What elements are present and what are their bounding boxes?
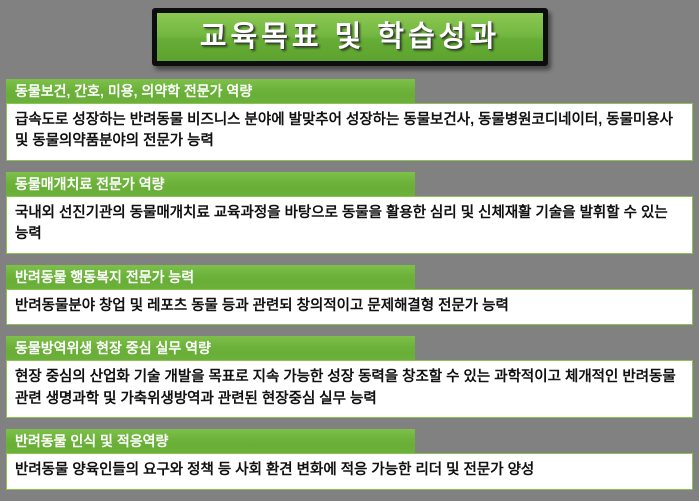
- section-header-bar: 동물방역위생 현장 중심 실무 역량: [6, 336, 415, 360]
- page-title: 교육목표 및 학습성과: [200, 23, 500, 52]
- slide-title-banner: 교육목표 및 학습성과: [152, 8, 548, 66]
- section-header-bar: 반려동물 행동복지 전문가 능력: [6, 265, 415, 289]
- section-item: 반려동물 행동복지 전문가 능력 반려동물분야 창업 및 레포츠 동물 등과 관…: [0, 265, 699, 325]
- section-body-text: 반려동물 양육인들의 요구와 정책 등 사회 환견 변화에 적응 가능한 리더 …: [15, 460, 684, 481]
- section-body-box: 국내외 선진기관의 동물매개치료 교육과정을 바탕으로 동물을 활용한 심리 및…: [6, 196, 693, 254]
- section-body-text: 급속도로 성장하는 반려동물 비즈니스 분야에 발맞추어 성장하는 동물보건사,…: [15, 110, 684, 153]
- section-item: 동물매개치료 전문가 역량 국내외 선진기관의 동물매개치료 교육과정을 바탕으…: [0, 172, 699, 254]
- section-body-box: 급속도로 성장하는 반려동물 비즈니스 분야에 발맞추어 성장하는 동물보건사,…: [6, 103, 693, 161]
- section-item: 반려동물 인식 및 적응역량 반려동물 양육인들의 요구와 정책 등 사회 환견…: [0, 429, 699, 489]
- section-body-text: 현장 중심의 산업화 기술 개발을 목표로 지속 가능한 성장 동력을 창조할 …: [15, 367, 684, 410]
- section-header-label: 동물방역위생 현장 중심 실무 역량: [15, 341, 211, 355]
- section-body-box: 반려동물분야 창업 및 레포츠 동물 등과 관련되 창의적이고 문제해결형 전문…: [6, 289, 693, 325]
- slide-root: 교육목표 및 학습성과 동물보건, 간호, 미용, 의약학 전문가 역량 급속도…: [0, 0, 699, 480]
- section-header-bar: 동물매개치료 전문가 역량: [6, 172, 415, 196]
- section-header-label: 반려동물 행동복지 전문가 능력: [15, 270, 194, 284]
- section-header-label: 동물보건, 간호, 미용, 의약학 전문가 역량: [15, 84, 252, 98]
- section-header-bar: 동물보건, 간호, 미용, 의약학 전문가 역량: [6, 79, 415, 103]
- section-header-bar: 반려동물 인식 및 적응역량: [6, 429, 415, 453]
- section-item: 동물방역위생 현장 중심 실무 역량 현장 중심의 산업화 기술 개발을 목표로…: [0, 336, 699, 418]
- section-header-label: 반려동물 인식 및 적응역량: [15, 434, 168, 448]
- section-list: 동물보건, 간호, 미용, 의약학 전문가 역량 급속도로 성장하는 반려동물 …: [0, 79, 699, 501]
- section-body-box: 반려동물 양육인들의 요구와 정책 등 사회 환견 변화에 적응 가능한 리더 …: [6, 453, 693, 489]
- section-body-box: 현장 중심의 산업화 기술 개발을 목표로 지속 가능한 성장 동력을 창조할 …: [6, 360, 693, 418]
- section-body-text: 국내외 선진기관의 동물매개치료 교육과정을 바탕으로 동물을 활용한 심리 및…: [15, 203, 684, 246]
- section-body-text: 반려동물분야 창업 및 레포츠 동물 등과 관련되 창의적이고 문제해결형 전문…: [15, 296, 684, 317]
- section-header-label: 동물매개치료 전문가 역량: [15, 177, 164, 191]
- section-item: 동물보건, 간호, 미용, 의약학 전문가 역량 급속도로 성장하는 반려동물 …: [0, 79, 699, 161]
